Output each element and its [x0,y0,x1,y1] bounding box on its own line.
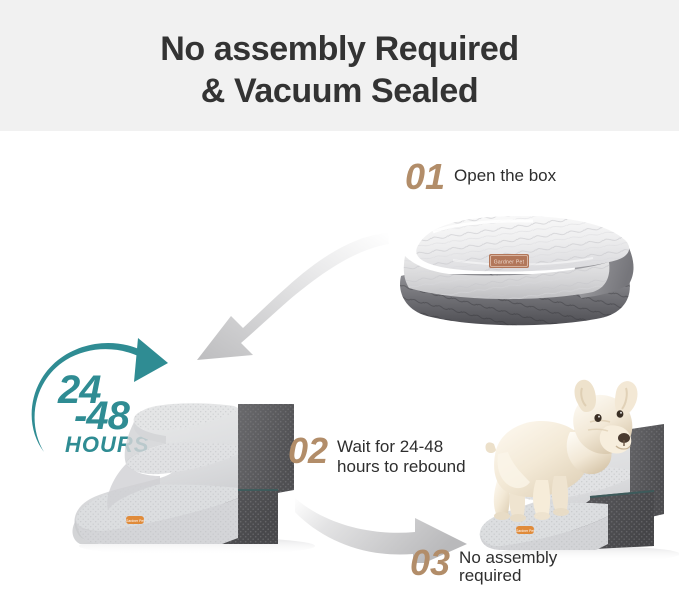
dog-on-pet-stairs-image: Gardner Pet [478,378,679,563]
brand-tag: Gardner Pet [126,516,145,524]
promo-infographic: No assembly Required & Vacuum Sealed [0,0,679,599]
page-title: No assembly Required & Vacuum Sealed [0,28,679,112]
brand-tag: Gardner Pet [516,526,535,534]
step-02-number: 02 [288,434,328,468]
svg-text:Gardner Pet: Gardner Pet [126,519,145,523]
page-title-line-1: No assembly Required [0,28,679,70]
step-01-number: 01 [405,160,445,194]
step-03: 03 No assembly required [410,546,557,585]
step-01-text: Open the box [454,160,556,186]
brand-label: Gardner Pet [489,254,529,268]
arrow-step-1-to-2-icon [175,225,390,365]
step-03-number: 03 [410,546,450,580]
svg-text:Gardner Pet: Gardner Pet [494,260,525,266]
step-02: 02 Wait for 24-48 hours to rebound [288,434,466,477]
vacuum-sealed-package-image: Gardner Pet [393,212,643,332]
step-01: 01 Open the box [405,160,556,194]
step-02-text: Wait for 24-48 hours to rebound [337,434,466,477]
page-title-line-2: & Vacuum Sealed [0,70,679,112]
step-03-text: No assembly required [459,546,557,585]
svg-text:Gardner Pet: Gardner Pet [516,529,535,533]
